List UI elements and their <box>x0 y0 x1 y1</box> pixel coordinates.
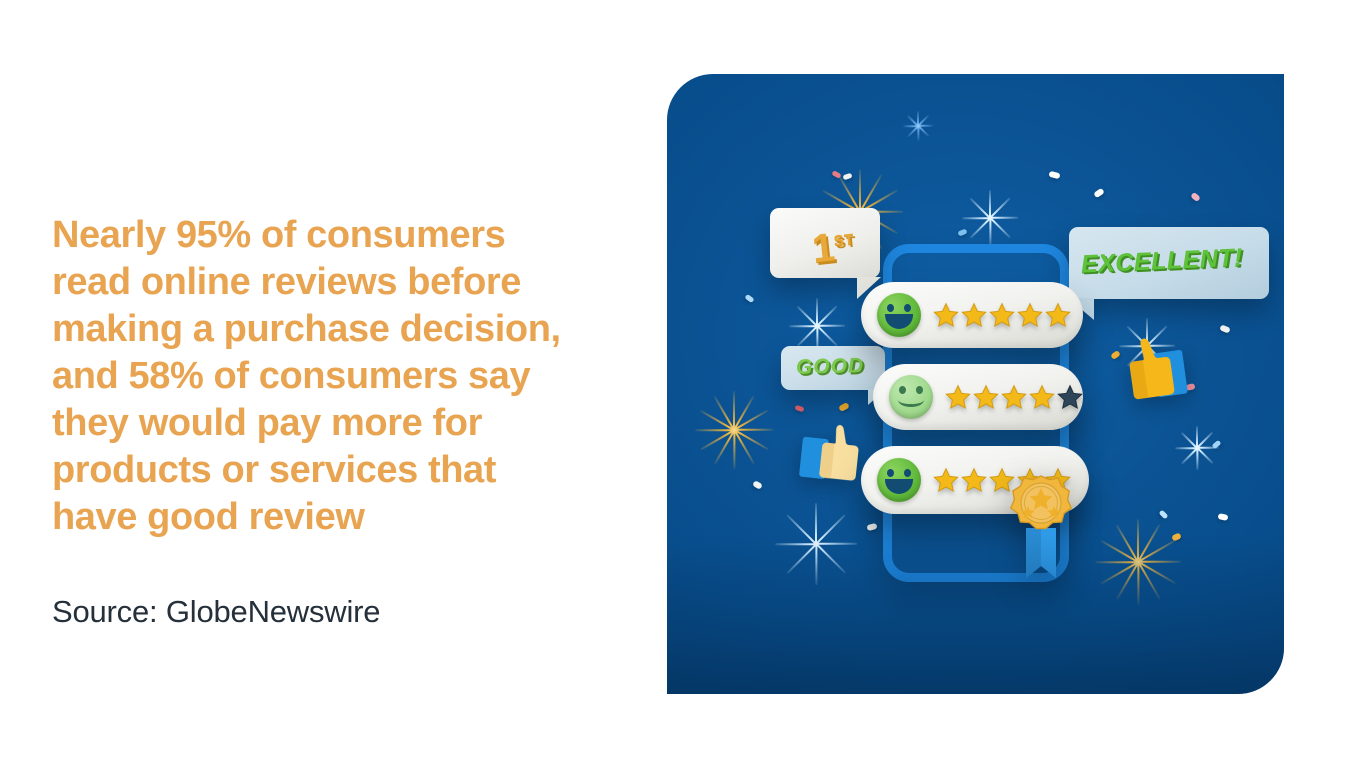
source-attribution: Source: GlobeNewswire <box>52 593 652 631</box>
smile-face-icon <box>889 375 933 419</box>
star-filled-icon <box>1001 384 1027 410</box>
thumbs-up-right-icon <box>1110 331 1194 418</box>
confetti-chip <box>1190 192 1201 202</box>
confetti-chip <box>1171 532 1182 541</box>
review-illustration: 1ST EXCELLENT! GOOD <box>667 74 1284 694</box>
good-label: GOOD <box>796 354 865 380</box>
mouth-icon <box>885 479 913 494</box>
slide-root: Nearly 95% of consumers read online revi… <box>0 0 1366 768</box>
star-filled-icon <box>961 467 987 493</box>
star-filled-icon <box>945 384 971 410</box>
confetti-chip <box>1211 440 1221 450</box>
firework-burst-icon <box>817 126 903 212</box>
confetti-chip <box>1159 510 1169 520</box>
confetti-chip <box>838 402 850 412</box>
first-place-bubble: 1ST <box>770 208 880 278</box>
award-medal-icon <box>999 466 1083 586</box>
confetti-chip <box>1217 513 1228 521</box>
star-filled-icon <box>973 384 999 410</box>
sparkle-icon <box>789 270 845 326</box>
star-filled-icon <box>1029 384 1055 410</box>
first-place-suffix: ST <box>833 231 855 250</box>
first-place-label: 1ST <box>810 218 857 271</box>
happy-smile-face-icon <box>877 293 921 337</box>
rating-row <box>873 364 1083 430</box>
sparkle-icon <box>962 162 1018 218</box>
confetti-chip <box>842 173 852 181</box>
star-filled-icon <box>1045 302 1071 328</box>
confetti-chip <box>866 523 877 532</box>
excellent-label: EXCELLENT! <box>1080 243 1243 279</box>
rating-row <box>861 282 1083 348</box>
page-title: Nearly 95% of consumers read online revi… <box>52 212 652 541</box>
sparkle-icon <box>903 96 933 126</box>
confetti-chip <box>831 170 841 179</box>
star-empty-icon <box>1057 384 1083 410</box>
eye-icon <box>904 304 911 312</box>
text-column: Nearly 95% of consumers read online revi… <box>52 212 652 631</box>
firework-burst-icon <box>695 352 773 430</box>
mouth-icon <box>885 314 913 329</box>
star-filled-icon <box>933 467 959 493</box>
confetti-chip <box>1219 324 1231 333</box>
confetti-chip <box>1048 171 1060 179</box>
confetti-chip <box>752 480 763 490</box>
sparkle-icon <box>1175 404 1219 448</box>
confetti-chip <box>1093 188 1105 199</box>
confetti-chip <box>744 294 754 303</box>
eye-icon <box>887 469 894 477</box>
mouth-icon <box>898 393 924 407</box>
star-filled-icon <box>933 302 959 328</box>
star-rating <box>933 302 1071 328</box>
good-bubble: GOOD <box>781 346 885 390</box>
confetti-chip <box>794 405 804 413</box>
star-filled-icon <box>989 302 1015 328</box>
eye-icon <box>904 469 911 477</box>
star-filled-icon <box>961 302 987 328</box>
eye-icon <box>887 304 894 312</box>
confetti-chip <box>957 228 967 236</box>
firework-burst-icon <box>1095 476 1181 562</box>
excellent-bubble: EXCELLENT! <box>1069 227 1269 299</box>
star-rating <box>945 384 1083 410</box>
happy-smile-face-icon <box>877 458 921 502</box>
star-filled-icon <box>1017 302 1043 328</box>
